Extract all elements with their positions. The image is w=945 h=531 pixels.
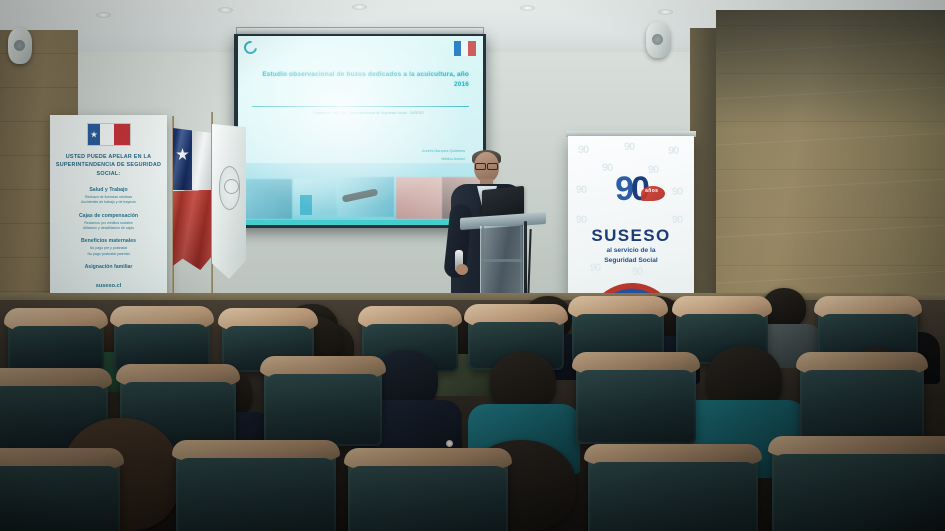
- gobierno-de-chile-crest: [87, 123, 131, 146]
- banner-watermark: 90: [632, 266, 642, 278]
- banner-section-title: Beneficios maternales: [55, 238, 162, 246]
- organization-tagline: al servicio de la Seguridad Social: [568, 246, 694, 266]
- auditorium-seat: [576, 356, 696, 444]
- banner-section-line: No pago postnatal parental: [55, 252, 162, 257]
- banner-section-line: Accidentes de trabajo y de trayecto: [55, 200, 162, 205]
- downlight: [352, 4, 367, 10]
- presentation-slide: Estudio observacional de buzos dedicados…: [238, 36, 483, 225]
- banner-watermark: 90: [578, 144, 588, 156]
- wall-speaker-right: [646, 22, 670, 58]
- organization-name: SUSESO: [568, 226, 694, 246]
- downlight: [658, 9, 673, 15]
- slide-title: Estudio observacional de buzos dedicados…: [262, 70, 469, 91]
- tagline-line-1: al servicio de la: [568, 246, 694, 256]
- lectern-shelf: [482, 259, 522, 262]
- banner-watermark: 90: [624, 141, 634, 153]
- banner-section-title: Asignación familiar: [55, 264, 162, 272]
- banner-section: Cajas de compensación Reclamos por crédi…: [55, 213, 162, 232]
- banner-watermark: 90: [576, 214, 586, 226]
- banner-watermark: 90: [672, 214, 682, 226]
- suseso-90-anniversary-logo: 90 años: [568, 172, 694, 206]
- chile-flag-icon: [454, 41, 476, 56]
- auditorium-seat: [800, 356, 924, 448]
- slide-photo-detail: [300, 195, 312, 215]
- attendee-head: [490, 352, 556, 412]
- banner-section: Asignación familiar: [55, 264, 162, 272]
- slide-photo-baseline: [238, 220, 483, 225]
- institutional-flag: [212, 124, 246, 279]
- banner-section-title: Salud y Trabajo: [55, 187, 162, 195]
- eyeglasses-icon: [475, 163, 498, 168]
- slide-divider: [252, 106, 469, 107]
- auditorium-seat: [588, 448, 758, 531]
- anniversary-word: años: [645, 189, 658, 194]
- tagline-line-2: Seguridad Social: [568, 256, 694, 266]
- auditorium-photo: Estudio observacional de buzos dedicados…: [0, 0, 945, 531]
- banner-section: Beneficios maternales No pago pre y post…: [55, 238, 162, 257]
- banner-section-title: Cajas de compensación: [55, 213, 162, 221]
- institutional-crest-icon: [219, 166, 240, 210]
- downlight: [520, 5, 535, 11]
- banner-section: Salud y Trabajo Rechazo de licencias méd…: [55, 187, 162, 206]
- auditorium-seat: [772, 440, 945, 531]
- slide-subtitle: Proyecto N° 100 // ISL, Superintendencia…: [268, 111, 469, 116]
- auditorium-seat: [176, 444, 336, 531]
- wall-shadow: [716, 10, 945, 130]
- auditorium-seat: [348, 452, 508, 531]
- uniform-insignia: [446, 440, 453, 447]
- auditorium-seat: [0, 452, 120, 531]
- auditorium-seat: [114, 310, 210, 372]
- downlight: [96, 12, 111, 18]
- banner-watermark: 90: [668, 145, 678, 157]
- wall-speaker-left: [8, 28, 32, 64]
- anniversary-number: 90 años: [615, 172, 647, 206]
- slide-photo: [240, 179, 292, 219]
- banner-headline: USTED PUEDE APELAR EN LA SUPERINTENDENCI…: [55, 153, 162, 178]
- auditorium-seat: [8, 312, 104, 372]
- slide-photo: [396, 177, 442, 219]
- anniversary-digit-9: 9: [615, 170, 631, 208]
- banner-section-line: Afiliación y desafiliación de cajas: [55, 226, 162, 231]
- auditorium-seat: [264, 360, 382, 446]
- banner-url: suseso.cl: [55, 283, 162, 289]
- presenter-hand: [456, 264, 468, 275]
- slide-photo-strip: [238, 163, 483, 225]
- suseso-spiral-icon: [241, 38, 259, 56]
- downlight: [218, 7, 233, 13]
